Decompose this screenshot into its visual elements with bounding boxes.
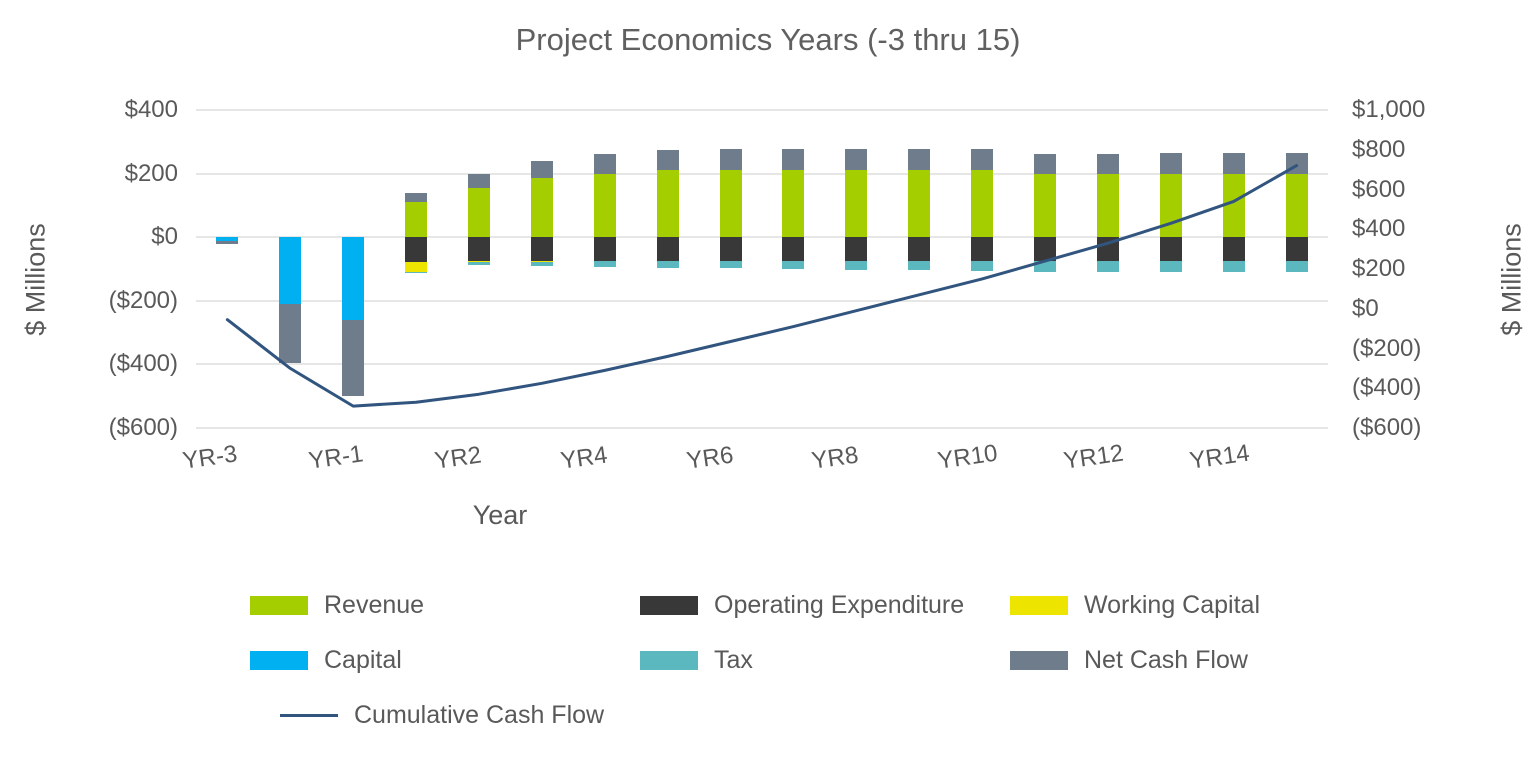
left-axis-tick-label: $400 bbox=[125, 98, 178, 122]
x-axis-tick-label: YR8 bbox=[810, 442, 860, 476]
legend-color-swatch bbox=[640, 596, 698, 615]
right-axis-tick-label: $800 bbox=[1352, 138, 1405, 162]
legend-item[interactable]: Operating Expenditure bbox=[640, 585, 964, 625]
legend-label: Revenue bbox=[324, 593, 424, 618]
x-axis-title: Year bbox=[0, 500, 1000, 531]
legend-item[interactable]: Revenue bbox=[250, 585, 424, 625]
left-axis-tick-label: $200 bbox=[125, 162, 178, 186]
x-axis-tick-label: YR14 bbox=[1188, 440, 1251, 476]
cumulative-cash-flow-line bbox=[196, 110, 1328, 428]
x-axis-tick-label: YR6 bbox=[685, 442, 735, 476]
right-axis-tick-label: $400 bbox=[1352, 217, 1405, 241]
left-axis-title: $ Millions bbox=[21, 190, 52, 370]
legend-item[interactable]: Capital bbox=[250, 640, 402, 680]
x-axis-tick-label: YR2 bbox=[433, 442, 483, 476]
right-axis-tick-label: $1,000 bbox=[1352, 98, 1425, 122]
right-axis-title: $ Millions bbox=[1497, 190, 1528, 370]
legend-label: Working Capital bbox=[1084, 593, 1260, 618]
x-axis-tick-label: YR10 bbox=[936, 440, 999, 476]
x-axis-tick-label: YR-3 bbox=[181, 440, 239, 475]
legend-label: Net Cash Flow bbox=[1084, 648, 1248, 673]
cumulative-cash-flow-polyline bbox=[227, 166, 1296, 407]
legend-color-swatch bbox=[1010, 651, 1068, 670]
right-axis-tick-label: ($200) bbox=[1352, 337, 1421, 361]
right-axis-tick-label: $600 bbox=[1352, 178, 1405, 202]
legend-color-swatch bbox=[250, 596, 308, 615]
legend-row: Cumulative Cash Flow bbox=[250, 695, 1330, 735]
legend-item[interactable]: Cumulative Cash Flow bbox=[280, 695, 604, 735]
x-axis-tick-label: YR4 bbox=[559, 442, 609, 476]
right-axis-tick-label: ($600) bbox=[1352, 416, 1421, 440]
left-axis-tick-label: $0 bbox=[151, 225, 178, 249]
legend-color-swatch bbox=[640, 651, 698, 670]
right-axis-tick-label: ($400) bbox=[1352, 376, 1421, 400]
left-axis-tick-label: ($200) bbox=[109, 289, 178, 313]
right-axis-tick-label: $200 bbox=[1352, 257, 1405, 281]
legend-color-swatch bbox=[250, 651, 308, 670]
legend-item[interactable]: Net Cash Flow bbox=[1010, 640, 1248, 680]
legend-item[interactable]: Tax bbox=[640, 640, 753, 680]
legend-label: Capital bbox=[324, 648, 402, 673]
legend-line-marker bbox=[280, 706, 338, 725]
legend-color-swatch bbox=[1010, 596, 1068, 615]
right-axis-tick-label: $0 bbox=[1352, 297, 1379, 321]
legend-row: RevenueOperating ExpenditureWorking Capi… bbox=[250, 585, 1330, 625]
legend-label: Operating Expenditure bbox=[714, 593, 964, 618]
legend-item[interactable]: Working Capital bbox=[1010, 585, 1260, 625]
legend-label: Cumulative Cash Flow bbox=[354, 703, 604, 728]
x-axis-tick-label: YR-1 bbox=[307, 440, 365, 475]
chart-title: Project Economics Years (-3 thru 15) bbox=[0, 22, 1536, 58]
plot-area bbox=[196, 110, 1328, 428]
left-axis-tick-label: ($400) bbox=[109, 352, 178, 376]
legend-label: Tax bbox=[714, 648, 753, 673]
legend-row: CapitalTaxNet Cash Flow bbox=[250, 640, 1330, 680]
left-axis-tick-label: ($600) bbox=[109, 416, 178, 440]
chart-container: Project Economics Years (-3 thru 15) $ M… bbox=[0, 0, 1536, 760]
x-axis-tick-label: YR12 bbox=[1062, 440, 1125, 476]
